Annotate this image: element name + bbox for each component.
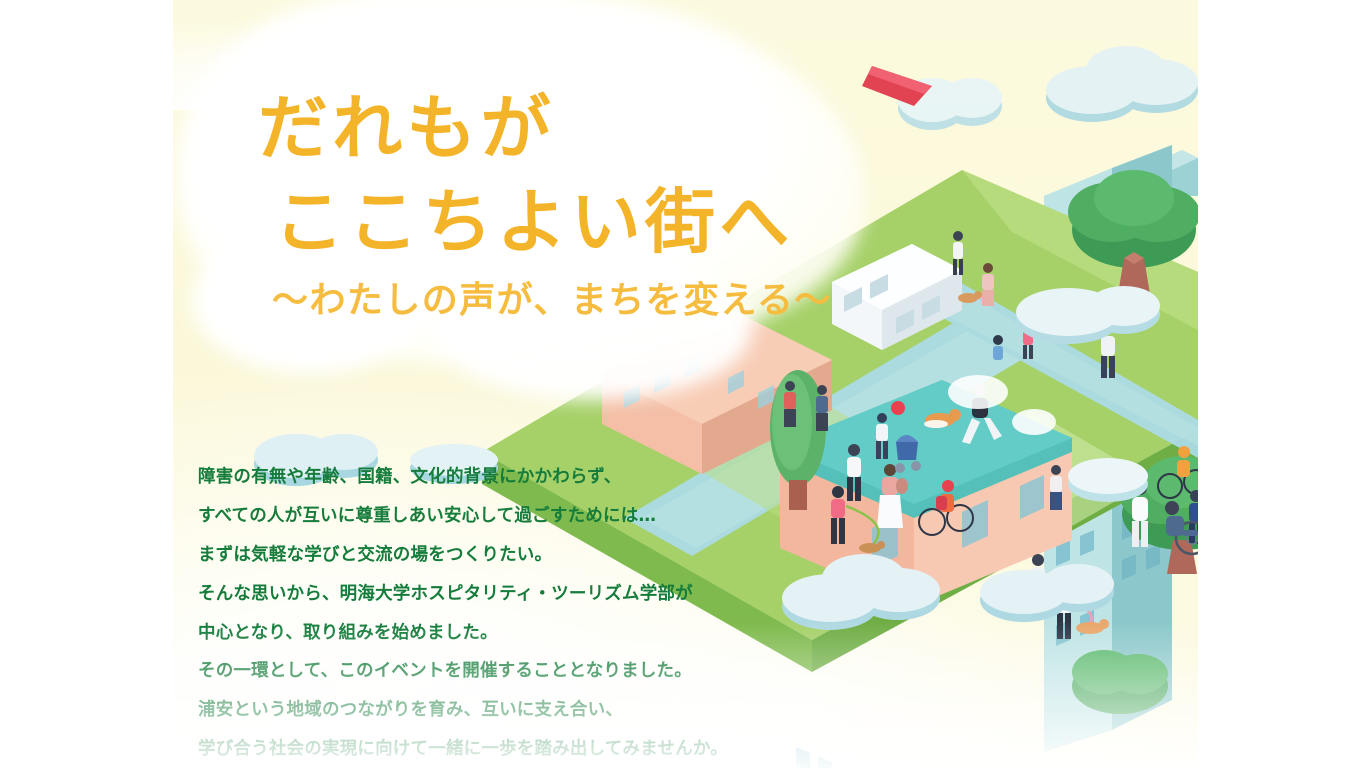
illustration-stage: だれもが ここちよい街へ 〜わたしの声が、まちを変える〜 障害の有無や年齢、国籍…: [172, 0, 1198, 768]
body-line: そんな思いから、明海大学ホスピタリティ・ツーリズム学部が: [198, 583, 898, 605]
poster-root: だれもが ここちよい街へ 〜わたしの声が、まちを変える〜 障害の有無や年齢、国籍…: [0, 0, 1372, 768]
headline-line-1: だれもが: [258, 82, 918, 176]
headline-subtitle: 〜わたしの声が、まちを変える〜: [272, 278, 918, 325]
cloud-icon: [898, 46, 1198, 130]
body-copy-block: 障害の有無や年齢、国籍、文化的背景にかかわらず、 すべての人が互いに尊重しあい安…: [198, 466, 898, 761]
body-line: 障害の有無や年齢、国籍、文化的背景にかかわらず、: [198, 466, 898, 488]
body-line: すべての人が互いに尊重しあい安心して過ごすためには…: [198, 505, 898, 527]
body-line: まずは気軽な学びと交流の場をつくりたい。: [198, 544, 898, 566]
body-line: その一環として、このイベントを開催することとなりました。: [198, 660, 898, 682]
body-line: 浦安という地域のつながりを育み、互いに支え合い、: [198, 699, 898, 721]
headline-block: だれもが ここちよい街へ 〜わたしの声が、まちを変える〜: [258, 82, 918, 324]
letterbox-right: [1198, 0, 1372, 768]
headline-line-2: ここちよい街へ: [274, 176, 918, 270]
body-line: 中心となり、取り組みを始めました。: [198, 622, 898, 644]
body-line: 学び合う社会の実現に向けて一緒に一歩を踏み出してみませんか。: [198, 738, 898, 760]
letterbox-left: [0, 0, 173, 768]
